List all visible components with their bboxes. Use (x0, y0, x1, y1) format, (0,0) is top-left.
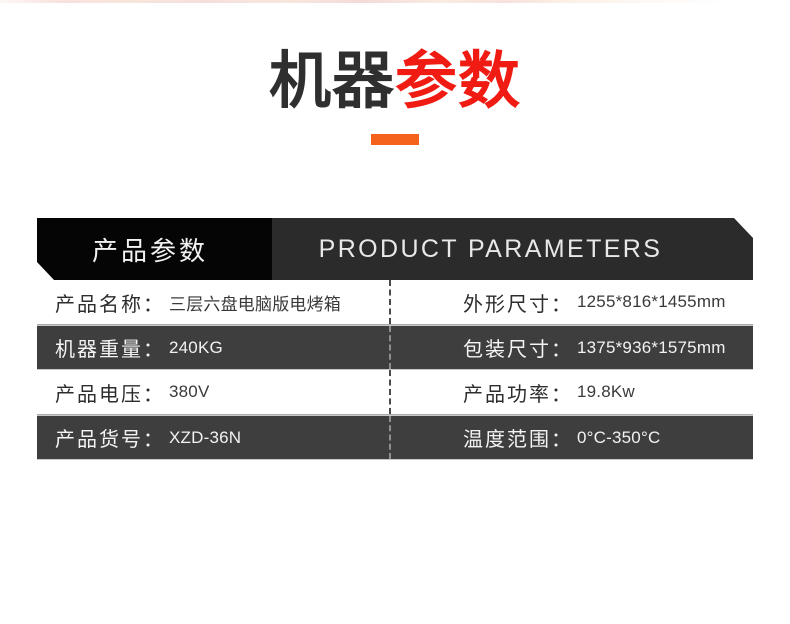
spec-value: 240KG (169, 338, 223, 358)
spec-value: 1255*816*1455mm (577, 292, 726, 312)
page-title-dark-part: 机器 (269, 47, 395, 116)
spec-cell-right: 外形尺寸： 1255*816*1455mm (395, 280, 753, 324)
spec-label: 温度范围： (463, 423, 573, 452)
table-row: 产品货号： XZD-36N 温度范围： 0°C-350°C (37, 415, 753, 460)
spec-value: 0°C-350°C (577, 428, 660, 448)
spec-label: 产品名称： (55, 288, 165, 317)
spec-label: 产品功率： (463, 378, 573, 407)
spec-value: 19.8Kw (577, 382, 635, 402)
banner-right-label: PRODUCT PARAMETERS (319, 235, 707, 264)
top-edge-color-strip (0, 0, 790, 3)
page-title-block: 机器参数 (0, 44, 790, 145)
banner-right-panel: PRODUCT PARAMETERS (272, 218, 753, 280)
table-row: 机器重量： 240KG 包装尺寸： 1375*936*1575mm (37, 325, 753, 370)
spec-value: 三层六盘电脑版电烤箱 (169, 290, 341, 315)
spec-label: 机器重量： (55, 333, 165, 362)
spec-label: 产品电压： (55, 378, 165, 407)
spec-cell-left: 产品电压： 380V (37, 370, 395, 414)
spec-value: XZD-36N (169, 428, 241, 448)
banner-left-panel: 产品参数 (37, 218, 272, 280)
spec-cell-left: 产品货号： XZD-36N (37, 416, 395, 459)
spec-value: 1375*936*1575mm (577, 338, 726, 358)
section-banner: 产品参数 PRODUCT PARAMETERS (37, 218, 753, 280)
spec-label: 产品货号： (55, 423, 165, 452)
spec-cell-right: 包装尺寸： 1375*936*1575mm (395, 326, 753, 369)
spec-cell-left: 产品名称： 三层六盘电脑版电烤箱 (37, 280, 395, 324)
title-accent-bar (371, 134, 419, 145)
table-row: 产品电压： 380V 产品功率： 19.8Kw (37, 370, 753, 415)
page-title-red-part: 参数 (395, 47, 521, 116)
banner-left-label: 产品参数 (92, 231, 208, 268)
spec-label: 外形尺寸： (463, 288, 573, 317)
spec-cell-right: 温度范围： 0°C-350°C (395, 416, 753, 459)
specification-table: 产品名称： 三层六盘电脑版电烤箱 外形尺寸： 1255*816*1455mm 机… (37, 280, 753, 460)
page-title: 机器参数 (0, 44, 790, 120)
spec-cell-right: 产品功率： 19.8Kw (395, 370, 753, 414)
spec-cell-left: 机器重量： 240KG (37, 326, 395, 369)
spec-value: 380V (169, 382, 210, 402)
spec-label: 包装尺寸： (463, 333, 573, 362)
table-row: 产品名称： 三层六盘电脑版电烤箱 外形尺寸： 1255*816*1455mm (37, 280, 753, 325)
